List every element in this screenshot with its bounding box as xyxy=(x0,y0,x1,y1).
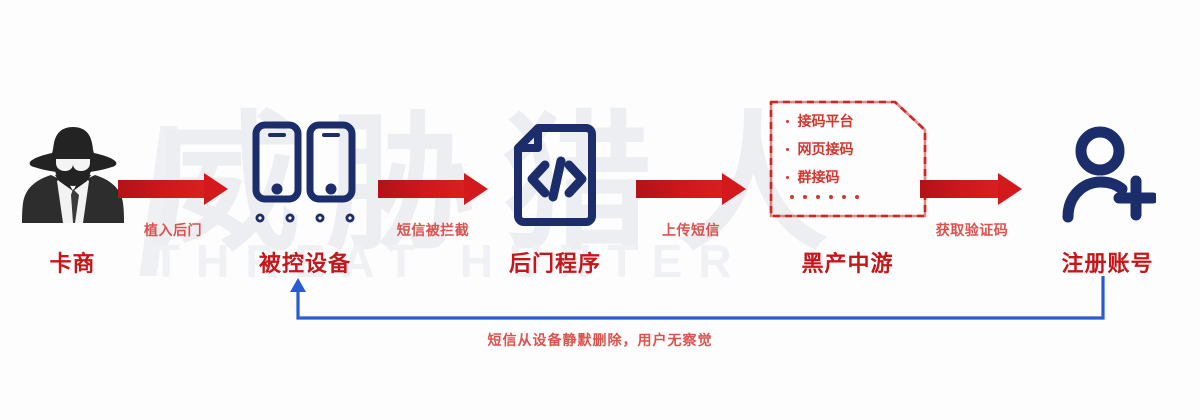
list-item-label: 接码平台 xyxy=(798,111,854,131)
dashed-note-box: 接码平台 网页接码 群接码 xyxy=(735,78,960,240)
arrow-head xyxy=(998,173,1022,205)
node-backdoor-program-label: 后门程序 xyxy=(480,246,630,278)
feedback-arrow-silent-delete xyxy=(285,276,1110,328)
ellipsis-dots-icon xyxy=(786,195,928,199)
bullet-dot-icon xyxy=(786,148,789,151)
arrow-shaft xyxy=(118,180,206,198)
node-kashang-label: 卡商 xyxy=(0,246,145,278)
arrow-label-implant-backdoor: 植入后门 xyxy=(118,220,228,240)
arrow-label-get-verification-code: 获取验证码 xyxy=(912,220,1032,240)
mobile-phones-icon xyxy=(225,110,385,240)
arrow-label-upload-sms: 上传短信 xyxy=(636,220,746,240)
user-add-icon xyxy=(1020,110,1195,240)
node-controlled-devices[interactable]: 被控设备 xyxy=(225,110,385,278)
arrow-label-sms-intercepted: 短信被拦截 xyxy=(373,220,493,240)
bullet-dot-icon xyxy=(786,176,789,179)
arrow-shaft xyxy=(636,180,724,198)
arrow-shaft xyxy=(378,180,466,198)
node-register-account-label: 注册账号 xyxy=(1020,246,1195,278)
code-document-icon xyxy=(480,110,630,240)
feedback-arrow-label: 短信从设备静默删除，用户无察觉 xyxy=(0,330,1200,350)
list-item-label: 网页接码 xyxy=(798,139,854,159)
node-register-account[interactable]: 注册账号 xyxy=(1020,110,1195,278)
arrow-shaft xyxy=(920,180,1000,198)
list-item-label: 群接码 xyxy=(798,167,840,187)
list-item: 接码平台 xyxy=(786,111,928,131)
node-controlled-devices-label: 被控设备 xyxy=(225,246,385,278)
diagram-canvas: 威胁猎人 THREAT HUNTER 卡商 xyxy=(0,0,1200,420)
node-backdoor-program[interactable]: 后门程序 xyxy=(480,110,630,278)
list-item: 网页接码 xyxy=(786,139,928,159)
list-item: 群接码 xyxy=(786,167,928,187)
node-black-market[interactable]: 接码平台 网页接码 群接码 黑产中游 xyxy=(735,78,960,278)
node-black-market-label: 黑产中游 xyxy=(735,246,960,278)
bullet-dot-icon xyxy=(786,120,789,123)
